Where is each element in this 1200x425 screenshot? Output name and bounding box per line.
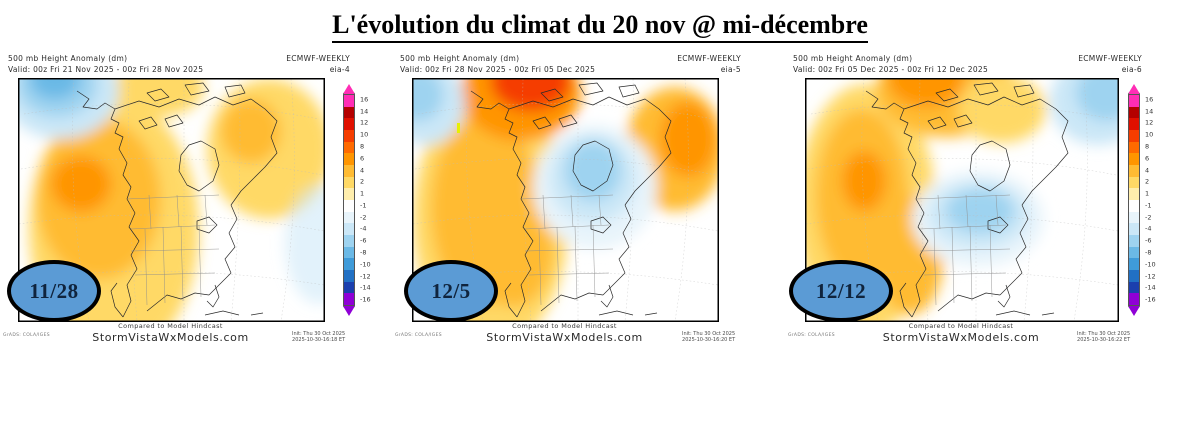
run-label: eia-5	[677, 64, 741, 75]
colorbar-tick-label: -8	[360, 250, 366, 257]
field-title: 500 mb Height Anomaly (dm)	[8, 53, 203, 64]
colorbar-strip	[343, 94, 355, 306]
hindcast-note: Compared to Model Hindcast	[18, 322, 323, 331]
colorbar-tick-label: 16	[360, 96, 368, 103]
panel-credits: Compared to Model Hindcast StormVistaWxM…	[18, 322, 323, 344]
page-title: L'évolution du climat du 20 nov @ mi-déc…	[0, 10, 1200, 43]
colorbar-tick-label: -1	[360, 202, 366, 209]
slide-canvas: L'évolution du climat du 20 nov @ mi-déc…	[0, 0, 1200, 425]
colorbar-tick-label: -6	[360, 238, 366, 245]
init-timestamp: Init: Thu 30 Oct 2025 2025-10-30-16:18 E…	[292, 331, 345, 343]
colorbar-segment	[344, 282, 354, 294]
date-badge-label: 12/12	[816, 279, 866, 304]
field-title: 500 mb Height Anomaly (dm)	[400, 53, 595, 64]
run-label: eia-4	[286, 64, 350, 75]
colorbar-tick-label: 8	[360, 144, 364, 151]
panel-header-right: ECMWF-WEEKLY eia-4	[286, 53, 350, 75]
hindcast-note: Compared to Model Hindcast	[805, 322, 1117, 331]
colorbar-tick-label: 14	[360, 108, 368, 115]
date-badge-label: 12/5	[431, 279, 470, 304]
init-timestamp: Init: Thu 30 Oct 2025 2025-10-30-16:20 E…	[682, 331, 735, 343]
date-badge-week2: 12/5	[404, 260, 498, 322]
colorbar-tick-label: -14	[360, 285, 371, 292]
colorbar-segment	[344, 95, 354, 107]
init-line-2: 2025-10-30-16:18 ET	[292, 337, 345, 343]
panel-header-left: 500 mb Height Anomaly (dm) Valid: 00z Fr…	[793, 53, 988, 75]
model-label: ECMWF-WEEKLY	[1078, 53, 1142, 64]
date-badge-week3: 12/12	[789, 260, 893, 322]
panel-header-left: 500 mb Height Anomaly (dm) Valid: 00z Fr…	[400, 53, 595, 75]
colorbar-segment	[344, 107, 354, 119]
source-watermark: StormVistaWxModels.com	[412, 331, 717, 344]
panel-header: 500 mb Height Anomaly (dm) Valid: 00z Fr…	[392, 52, 785, 76]
colorbar-tick-label: 10	[360, 132, 368, 139]
colorbar-segment	[344, 293, 354, 305]
init-line-2: 2025-10-30-16:20 ET	[682, 337, 735, 343]
date-badge-label: 11/28	[29, 279, 78, 304]
colorbar-segment	[344, 223, 354, 235]
model-label: ECMWF-WEEKLY	[286, 53, 350, 64]
valid-period: Valid: 00z Fri 28 Nov 2025 - 00z Fri 05 …	[400, 64, 595, 75]
colorbar-tick-label: -16	[360, 297, 371, 304]
colorbar-week1: 1614121086421-1-2-4-6-8-10-12-14-16	[340, 84, 386, 316]
colorbar-segment	[344, 188, 354, 200]
colorbar-tick-label: -2	[360, 214, 366, 221]
panel-credits: Compared to Model Hindcast StormVistaWxM…	[412, 322, 717, 344]
colorbar-tick-label: 1	[360, 191, 364, 198]
colorbar-segment	[344, 258, 354, 270]
colorbar-cap-top	[343, 84, 355, 94]
date-badge-week1: 11/28	[7, 260, 101, 322]
source-watermark: StormVistaWxModels.com	[805, 331, 1117, 344]
colorbar-tick-label: -12	[360, 273, 371, 280]
init-line-2: 2025-10-30-16:22 ET	[1077, 337, 1130, 343]
colorbar-segment	[344, 153, 354, 165]
colorbar-tick-label: 12	[360, 120, 368, 127]
colorbar-tick-label: 2	[360, 179, 364, 186]
run-label: eia-6	[1078, 64, 1142, 75]
grads-watermark: GrADS: COLA/IGES	[3, 333, 50, 338]
page-title-text: L'évolution du climat du 20 nov @ mi-déc…	[332, 10, 868, 43]
panel-header-left: 500 mb Height Anomaly (dm) Valid: 00z Fr…	[8, 53, 203, 75]
colorbar-segment	[344, 130, 354, 142]
valid-period: Valid: 00z Fri 21 Nov 2025 - 00z Fri 28 …	[8, 64, 203, 75]
colorbar-tick-label: -10	[360, 261, 371, 268]
colorbar-segment	[344, 118, 354, 130]
colorbar-tick-label: 6	[360, 155, 364, 162]
init-timestamp: Init: Thu 30 Oct 2025 2025-10-30-16:22 E…	[1077, 331, 1130, 343]
colorbar-segment	[344, 247, 354, 259]
hindcast-note: Compared to Model Hindcast	[412, 322, 717, 331]
colorbar-segment	[344, 142, 354, 154]
colorbar-labels: 1614121086421-1-2-4-6-8-10-12-14-16	[358, 94, 386, 306]
panel-header-right: ECMWF-WEEKLY eia-5	[677, 53, 741, 75]
model-label: ECMWF-WEEKLY	[677, 53, 741, 64]
colorbar-segment	[344, 165, 354, 177]
panel-credits: Compared to Model Hindcast StormVistaWxM…	[805, 322, 1117, 344]
colorbar-segment	[344, 212, 354, 224]
colorbar-segment	[344, 235, 354, 247]
colorbar-cap-bottom	[343, 306, 355, 316]
colorbar-segment	[344, 177, 354, 189]
panel-header: 500 mb Height Anomaly (dm) Valid: 00z Fr…	[0, 52, 392, 76]
colorbar-tick-label: 4	[360, 167, 364, 174]
panel-header: 500 mb Height Anomaly (dm) Valid: 00z Fr…	[785, 52, 1200, 76]
grads-watermark: GrADS: COLA/IGES	[395, 333, 442, 338]
colorbar-tick-label: -4	[360, 226, 366, 233]
source-watermark: StormVistaWxModels.com	[18, 331, 323, 344]
colorbar-segment	[344, 270, 354, 282]
colorbar-segment	[344, 200, 354, 212]
grads-watermark: GrADS: COLA/IGES	[788, 333, 835, 338]
valid-period: Valid: 00z Fri 05 Dec 2025 - 00z Fri 12 …	[793, 64, 988, 75]
field-title: 500 mb Height Anomaly (dm)	[793, 53, 988, 64]
panel-header-right: ECMWF-WEEKLY eia-6	[1078, 53, 1142, 75]
